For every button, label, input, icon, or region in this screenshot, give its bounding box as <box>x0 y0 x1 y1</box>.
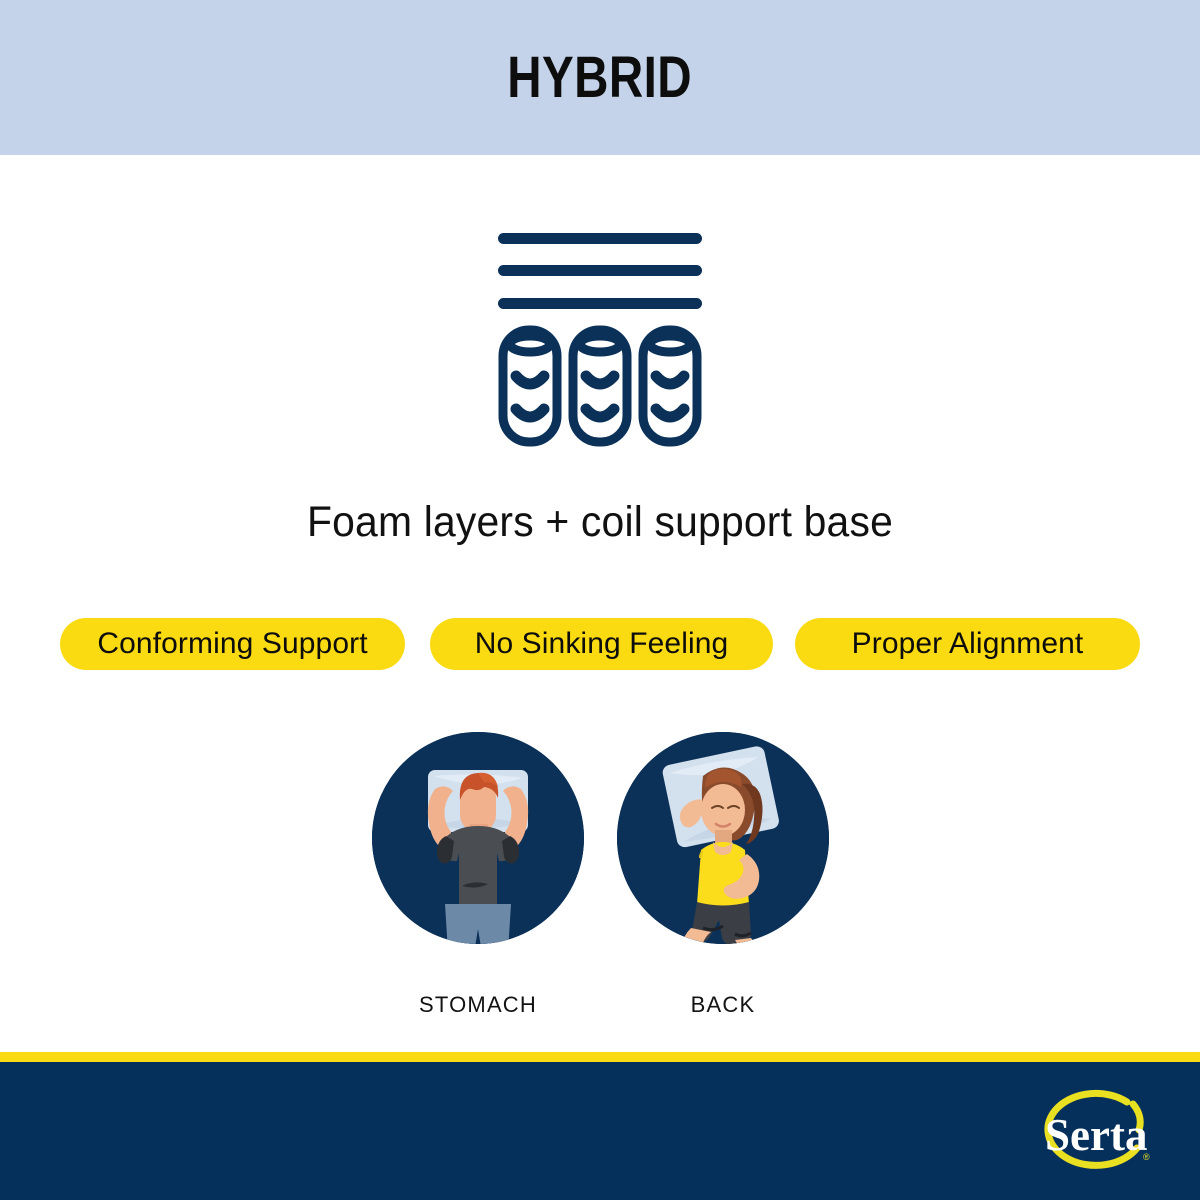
benefit-pill-no-sinking-feeling[interactable]: No Sinking Feeling <box>430 618 773 670</box>
benefit-pill-conforming-support[interactable]: Conforming Support <box>60 618 405 670</box>
sleep-position-label-stomach: STOMACH <box>372 992 584 1018</box>
back-sleeper-circle <box>617 732 829 944</box>
hybrid-mattress-icon <box>490 225 710 455</box>
sleep-position-back[interactable]: BACK <box>617 732 829 1018</box>
sleep-position-stomach[interactable]: STOMACH <box>372 732 584 1018</box>
stomach-sleeper-circle <box>372 732 584 944</box>
benefit-pill-row: Conforming Support No Sinking Feeling Pr… <box>0 618 1200 670</box>
sleep-positions-row: STOMACH <box>0 732 1200 1022</box>
sleep-position-label-back: BACK <box>617 992 829 1018</box>
benefit-pill-proper-alignment[interactable]: Proper Alignment <box>795 618 1140 670</box>
registered-mark: ® <box>1143 1152 1150 1162</box>
subtitle-text: Foam layers + coil support base <box>30 498 1170 547</box>
back-sleeper-illustration <box>617 732 829 944</box>
head <box>460 773 498 832</box>
foam-layer-bars <box>498 233 702 309</box>
stomach-sleeper-illustration <box>372 732 584 944</box>
coil-spring-marks <box>516 376 684 417</box>
serta-wordmark: Serta <box>1045 1110 1147 1160</box>
footer-accent-stripe <box>0 1052 1200 1062</box>
serta-logo[interactable]: Serta ® <box>1015 1088 1165 1180</box>
face <box>701 769 745 836</box>
page-title: HYBRID <box>508 44 693 111</box>
header-band: HYBRID <box>0 0 1200 155</box>
